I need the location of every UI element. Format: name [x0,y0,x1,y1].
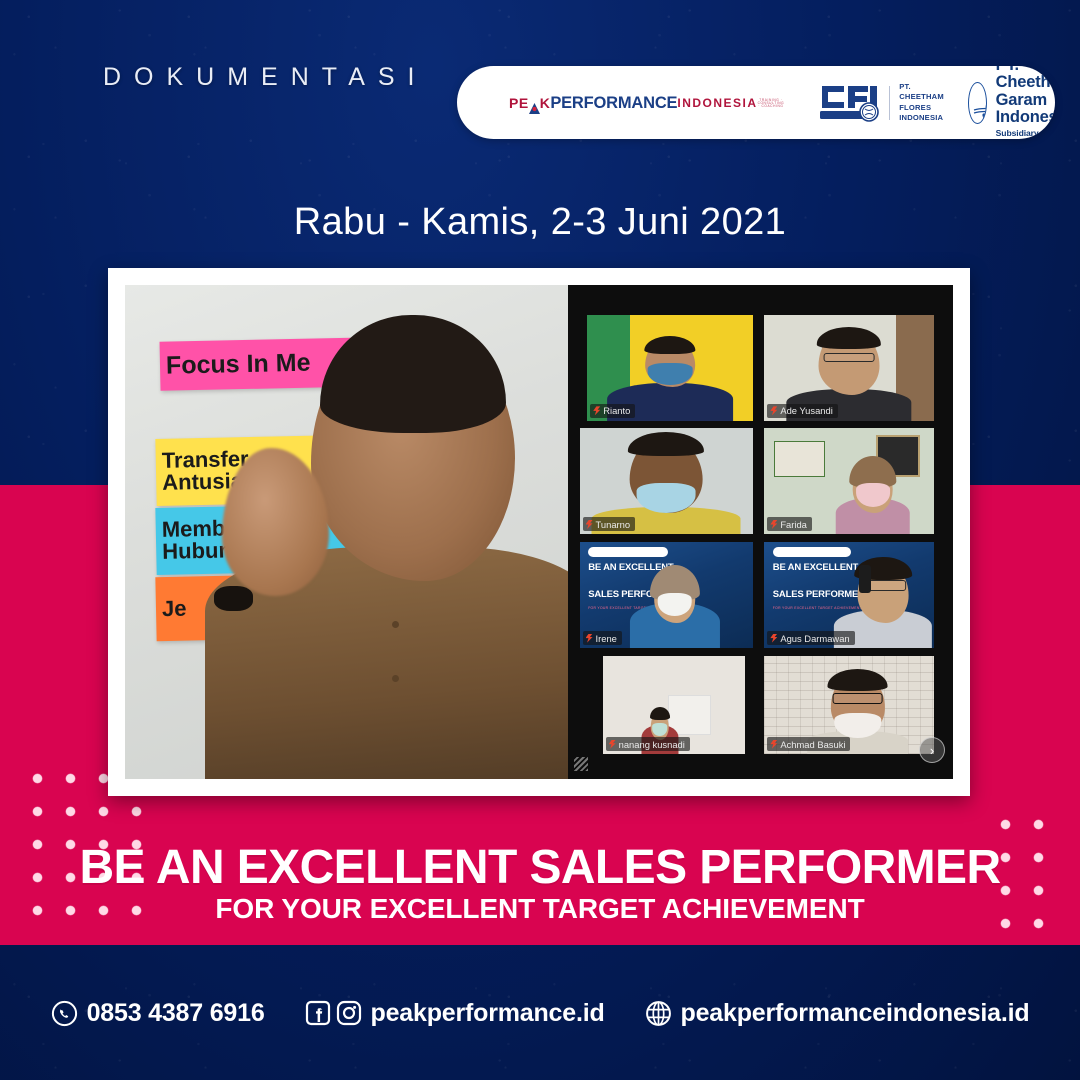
cheetham-seahorse-icon [968,82,987,124]
participant-name: nanang kusnadi [619,739,685,750]
zoom-mute-icon [609,740,616,749]
footer-whatsapp-label: 0853 4387 6916 [87,999,265,1028]
zoom-mute-icon [770,740,777,749]
cfi-line2: CHEETHAM [899,92,944,102]
zoom-tile-nanang-kusnadi[interactable]: nanang kusnadi [603,656,745,755]
cfi-inner-divider [889,86,890,120]
cfi-line3: FLORES [899,103,944,113]
cfi-line1: PT. [899,82,944,92]
photo-frame: Focus In Me Transfer Antusiasme Membangu… [108,268,970,796]
peak-mountain-icon [528,102,541,115]
footer-social[interactable]: peakperformance.id [305,999,605,1028]
zoom-next-page-button[interactable]: › [919,737,945,763]
zoom-mute-icon [770,406,777,415]
page-subtitle: FOR YOUR EXCELLENT TARGET ACHIEVEMENT [0,893,1080,925]
zoom-nametag: Achmad Basuki [767,737,850,751]
participant-name: Ade Yusandi [780,405,832,416]
zoom-tile-agus-darmawan[interactable]: BE AN EXCELLENT SALES PERFORMER FOR YOUR… [764,542,933,648]
ppi-line1: PE K [509,96,550,110]
zoom-nametag: Farida [767,517,812,531]
zoom-tile-irene[interactable]: BE AN EXCELLENT SALES PERFORMER FOR YOUR… [580,542,753,648]
zoom-nametag: Tunarno [583,517,636,531]
ppi-line2: PERFORMANCE [550,95,677,112]
zoom-tile-ade-yusandi[interactable]: Ade Yusandi [764,315,933,421]
zoom-tile-tunarno[interactable]: Tunarno [580,428,753,534]
zoom-nametag: Irene [583,631,622,645]
speaker-watch [214,586,254,611]
zoom-nametag: nanang kusnadi [606,737,690,751]
zoom-mute-icon [593,406,600,415]
zoom-nametag: Rianto [590,404,635,418]
footer-website[interactable]: peakperformanceindonesia.id [645,999,1030,1028]
zoom-resize-handle[interactable] [574,757,588,771]
logo-bar: PE K PERFORMANCE INDONESIA TRAINING · CO… [457,66,1055,139]
poster-canvas: DOKUMENTASI PE K PERFORMANCE INDONESIA T… [0,0,1080,1080]
whatsapp-icon [51,1000,78,1027]
globe-icon [645,1000,672,1027]
cfi-wordmark: PT. CHEETHAM FLORES INDONESIA [899,82,944,122]
participant-name: Rianto [603,405,630,416]
eyebrow-dokumentasi: DOKUMENTASI [103,63,428,92]
zoom-tile-achmad-basuki[interactable]: Achmad Basuki [764,656,933,755]
footer-whatsapp[interactable]: 0853 4387 6916 [51,999,265,1028]
logo-cheetham-garam: PT. Cheetham Garam Indonesia Subsidiary … [954,66,1055,139]
zoom-mute-icon [586,520,593,529]
footer-contact-bar: 0853 4387 6916 peakperformance.id peakpe… [0,988,1080,1038]
zoom-mute-icon [586,634,593,643]
speaker-photo-panel: Focus In Me Transfer Antusiasme Membangu… [125,285,568,779]
event-date: Rabu - Kamis, 2-3 Juni 2021 [0,201,1080,244]
participant-name: Irene [596,633,617,644]
zoom-mute-icon [770,634,777,643]
ppi-tagline: TRAINING · CONSULTING · COACHING [758,99,785,109]
zoom-nametag: Ade Yusandi [767,404,837,418]
documentation-photo: Focus In Me Transfer Antusiasme Membangu… [125,285,953,779]
zoom-participant-grid: Rianto Ade Yusandi [568,285,953,779]
zoom-mute-icon [770,520,777,529]
instagram-icon [336,1000,362,1026]
ppi-line3: INDONESIA [677,97,757,109]
facebook-icon [305,1000,331,1026]
zoom-tile-farida[interactable]: Farida [764,428,933,534]
zoom-nametag: Agus Darmawan [767,631,854,645]
participant-name: Tunarno [596,519,631,530]
footer-social-label: peakperformance.id [371,999,605,1028]
cfi-line4: INDONESIA [899,113,944,123]
participant-name: Farida [780,519,807,530]
cfi-mark-icon [818,82,880,124]
logo-peak-performance-indonesia: PE K PERFORMANCE INDONESIA TRAINING · CO… [457,66,800,139]
page-title: BE AN EXCELLENT SALES PERFORMER [0,840,1080,895]
logo-cfi: PT. CHEETHAM FLORES INDONESIA [800,66,954,139]
participant-name: Agus Darmawan [780,633,849,644]
participant-name: Achmad Basuki [780,739,845,750]
zoom-tile-rianto[interactable]: Rianto [587,315,753,421]
footer-website-label: peakperformanceindonesia.id [681,999,1030,1028]
